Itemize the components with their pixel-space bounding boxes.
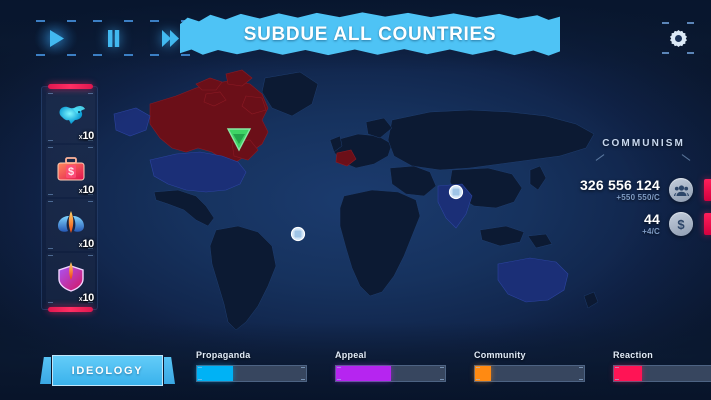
event-marker-india-icon[interactable] <box>446 182 466 202</box>
population-edge-accent <box>704 179 711 201</box>
people-icon <box>669 178 693 202</box>
meter-label-reaction: Reaction <box>613 350 711 360</box>
pause-button[interactable] <box>91 20 135 56</box>
meter-track-propaganda <box>196 365 307 382</box>
item-slot-dove[interactable]: x10 <box>46 91 95 143</box>
meter-community[interactable]: Community <box>474 350 585 382</box>
item-qty-dove: x10 <box>79 130 94 142</box>
ideology-button-body: IDEOLOGY <box>52 355 163 386</box>
event-marker-brazil-icon[interactable] <box>288 224 308 244</box>
ideology-button-label: IDEOLOGY <box>72 365 144 377</box>
ideology-button[interactable]: IDEOLOGY <box>40 355 175 386</box>
meter-reaction[interactable]: Reaction <box>613 350 711 382</box>
money-value: 44 <box>642 212 660 227</box>
money-delta: +4/C <box>642 227 660 236</box>
ideology-button-wing-right <box>164 357 175 384</box>
item-slot-wings[interactable]: x10 <box>46 199 95 251</box>
meter-track-appeal <box>335 365 446 382</box>
meter-label-community: Community <box>474 350 585 360</box>
play-icon <box>48 29 65 48</box>
briefcase-icon: $ <box>51 150 91 188</box>
objective-banner: SUBDUE ALL COUNTRIES <box>180 11 560 58</box>
money-stat: 44 +4/C $ <box>642 212 693 236</box>
item-panel-bottom-accent <box>48 307 93 312</box>
pause-icon <box>106 29 121 48</box>
meter-propaganda[interactable]: Propaganda <box>196 350 307 382</box>
shield-icon <box>51 258 91 296</box>
item-panel: x10 $ x10 <box>41 86 98 310</box>
meter-track-community <box>474 365 585 382</box>
top-bar: SUBDUE ALL COUNTRIES <box>0 0 711 72</box>
target-marker-icon[interactable] <box>224 124 254 154</box>
dove-icon <box>51 96 91 134</box>
wings-icon <box>51 204 91 242</box>
page-title: SUBDUE ALL COUNTRIES <box>180 11 560 58</box>
ideology-label: COMMUNISM <box>602 138 685 149</box>
meter-label-propaganda: Propaganda <box>196 350 307 360</box>
svg-text:$: $ <box>67 166 73 178</box>
money-edge-accent <box>704 213 711 235</box>
settings-button[interactable] <box>662 22 694 54</box>
population-delta: +550 550/C <box>580 193 660 202</box>
item-qty-shield: x10 <box>79 292 94 304</box>
gear-icon <box>669 29 688 48</box>
meter-fill-appeal <box>336 366 391 381</box>
item-qty-wings: x10 <box>79 238 94 250</box>
speed-controls <box>34 20 192 56</box>
population-stat: 326 556 124 +550 550/C <box>580 178 693 202</box>
meter-fill-propaganda <box>197 366 233 381</box>
svg-text:$: $ <box>677 217 685 232</box>
dollar-icon: $ <box>669 212 693 236</box>
item-qty-briefcase: x10 <box>79 184 94 196</box>
item-slot-briefcase[interactable]: $ x10 <box>46 145 95 197</box>
meter-group: Propaganda Appeal Community <box>196 350 711 382</box>
population-value: 326 556 124 <box>580 178 660 193</box>
meter-label-appeal: Appeal <box>335 350 446 360</box>
meter-track-reaction <box>613 365 711 382</box>
item-panel-top-accent <box>48 84 93 89</box>
play-button[interactable] <box>34 20 78 56</box>
meter-appeal[interactable]: Appeal <box>335 350 446 382</box>
ideology-button-wing-left <box>40 357 51 384</box>
game-screen: SUBDUE ALL COUNTRIES <box>0 0 711 400</box>
bottom-bar: IDEOLOGY Propaganda Appeal Community <box>0 322 711 400</box>
item-slot-shield[interactable]: x10 <box>46 253 95 305</box>
fast-forward-icon <box>161 29 180 48</box>
